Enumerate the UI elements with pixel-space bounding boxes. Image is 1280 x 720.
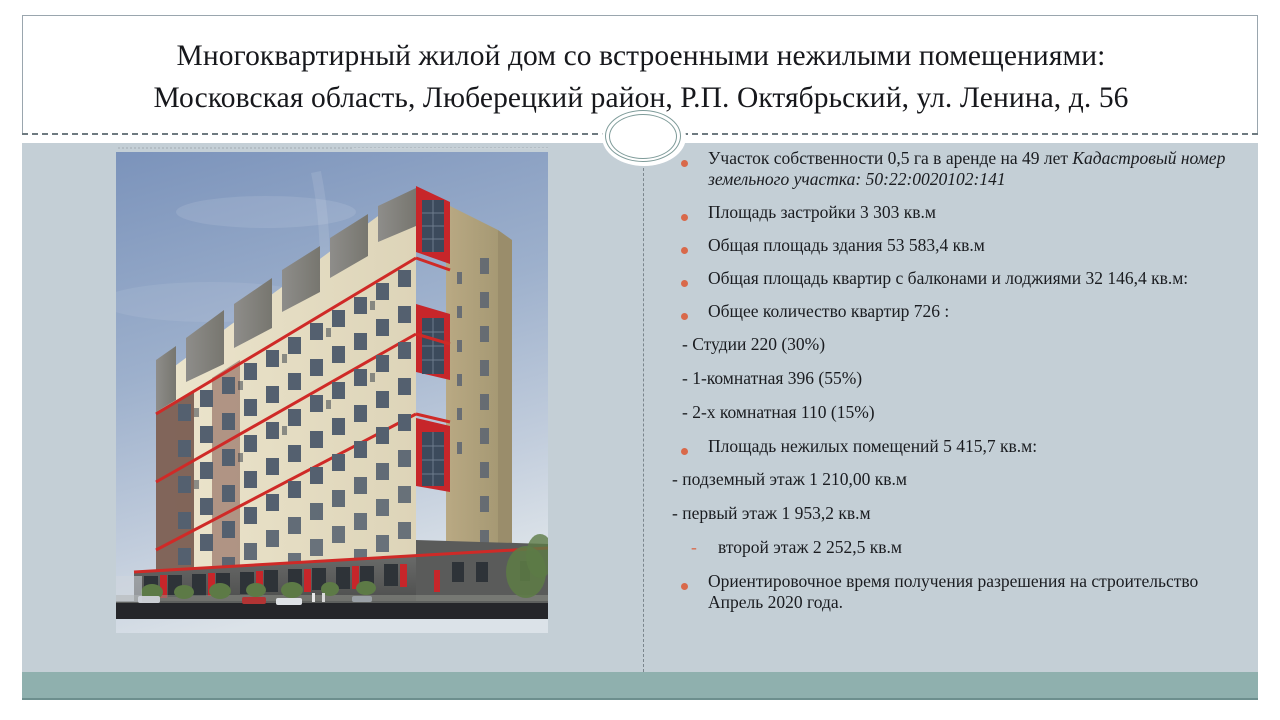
bullet-dot-icon (672, 148, 708, 169)
bullet-item: Общая площадь квартир с балконами и лодж… (672, 268, 1242, 289)
page-title: Многоквартирный жилой дом со встроенными… (23, 35, 1259, 119)
bullet-text: Площадь нежилых помещений 5 415,7 кв.м: (708, 436, 1242, 457)
bullet-item: Площадь застройки 3 303 кв.м (672, 202, 1242, 223)
sub-item: - первый этаж 1 953,2 кв.м (672, 503, 1242, 524)
bullet-text: Общая площадь квартир с балконами и лодж… (708, 268, 1242, 289)
bullet-item: Общая площадь здания 53 583,4 кв.м (672, 235, 1242, 256)
bullet-dot-icon (672, 301, 708, 322)
bullet-item: Участок собственности 0,5 га в аренде на… (672, 148, 1242, 190)
bullet-text: Участок собственности 0,5 га в аренде на… (708, 148, 1242, 190)
bullet-item: Площадь нежилых помещений 5 415,7 кв.м: (672, 436, 1242, 457)
ornament-inner-ring (609, 114, 677, 159)
bullet-item: Общее количество квартир 726 : (672, 301, 1242, 322)
vertical-separator (643, 143, 644, 672)
bullet-text: Площадь застройки 3 303 кв.м (708, 202, 1242, 223)
bullet-dot-icon (672, 571, 708, 592)
sub-item: - 2-х комнатная 110 (15%) (672, 402, 1242, 423)
bullet-text-plain: Участок собственности 0,5 га в аренде на… (708, 148, 1072, 168)
bullet-dot-icon (672, 235, 708, 256)
bullet-item: Ориентировочное время получения разрешен… (672, 571, 1242, 613)
sub-item: - подземный этаж 1 210,00 кв.м (672, 469, 1242, 490)
bullet-text: Общее количество квартир 726 : (708, 301, 1242, 322)
dash-marker-icon: - (682, 537, 718, 558)
bullet-dot-icon (672, 268, 708, 289)
slide: Многоквартирный жилой дом со встроенными… (0, 0, 1280, 720)
bullet-list: Участок собственности 0,5 га в аренде на… (672, 148, 1242, 625)
title-line-1: Многоквартирный жилой дом со встроенными… (23, 35, 1259, 77)
sub-item: - Студии 220 (30%) (672, 334, 1242, 355)
photo-top-rule (352, 148, 548, 149)
footer-bar (22, 672, 1258, 700)
bullet-dot-icon (672, 436, 708, 457)
sub-item: - 1-комнатная 396 (55%) (672, 368, 1242, 389)
building-rendering-image (116, 152, 548, 633)
dash-item: - второй этаж 2 252,5 кв.м (672, 537, 1242, 558)
bullet-text: Общая площадь здания 53 583,4 кв.м (708, 235, 1242, 256)
dash-item-text: второй этаж 2 252,5 кв.м (718, 537, 902, 558)
bullet-text: Ориентировочное время получения разрешен… (708, 571, 1242, 613)
bullet-dot-icon (672, 202, 708, 223)
